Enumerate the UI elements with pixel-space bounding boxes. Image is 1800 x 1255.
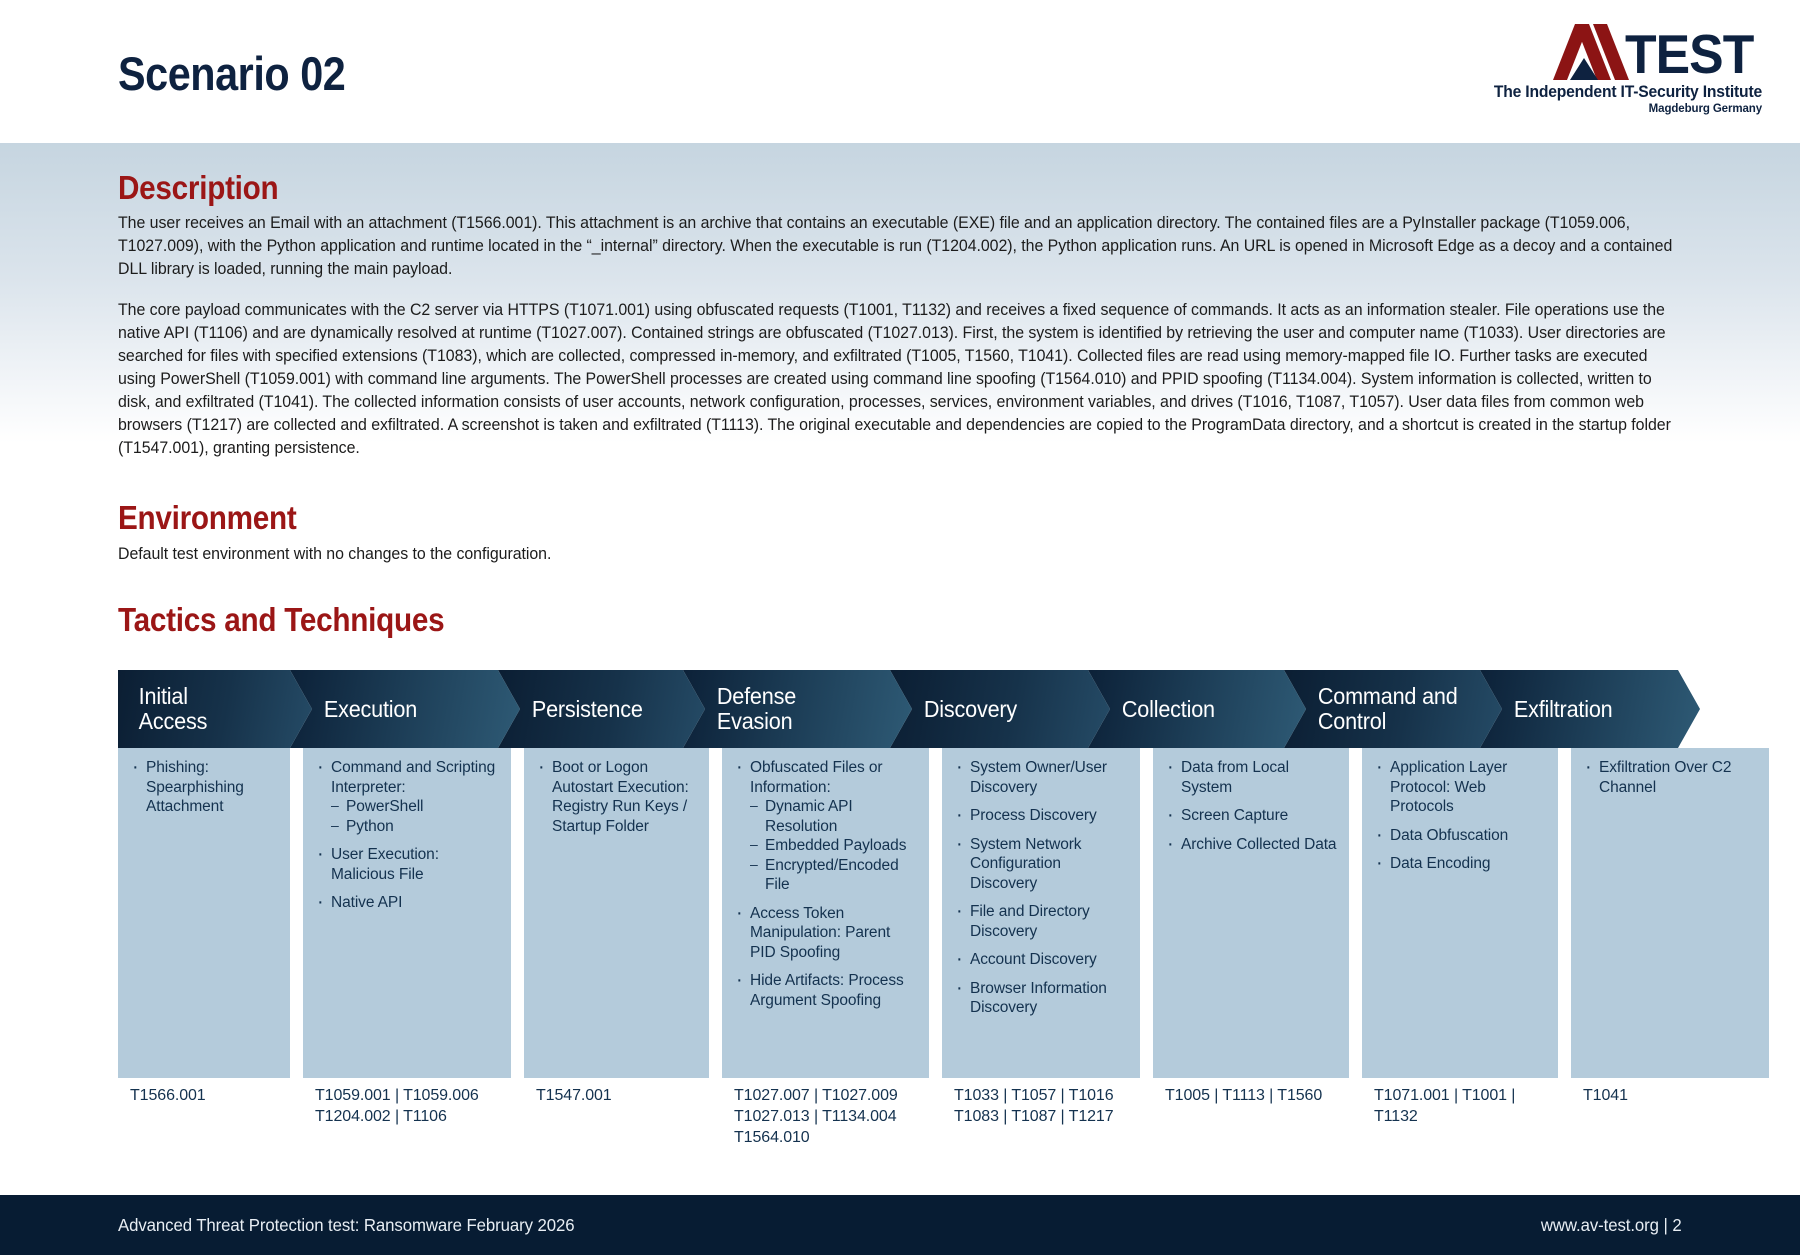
av-test-logo: TEST The Independent IT-Security Institu… [1472, 22, 1762, 115]
technique-column: Obfuscated Files or Information:Dynamic … [722, 748, 929, 1078]
environment-heading: Environment [118, 500, 1549, 536]
tactic-label: Initial Access [118, 684, 207, 734]
tactic-chevron-persistence[interactable]: Persistence [498, 670, 705, 748]
technique-ids: T1547.001 [524, 1086, 709, 1166]
description-paragraph-2: The core payload communicates with the C… [118, 299, 1681, 461]
technique-sublist: PowerShellPython [331, 797, 501, 836]
technique-item: User Execution: Malicious File [315, 845, 501, 884]
technique-column: Phishing: Spearphishing Attachment [118, 748, 290, 1078]
technique-subitem: PowerShell [331, 797, 501, 817]
logo-wordmark: TEST [1472, 22, 1762, 80]
technique-column: Command and Scripting Interpreter:PowerS… [303, 748, 511, 1078]
technique-item: Data Obfuscation [1374, 826, 1548, 846]
description-paragraph-1: The user receives an Email with an attac… [118, 212, 1681, 281]
tactic-chevron-row: Initial AccessExecutionPersistenceDefens… [118, 670, 1678, 748]
technique-ids: T1566.001 [118, 1086, 290, 1166]
technique-column: System Owner/User DiscoveryProcess Disco… [942, 748, 1140, 1078]
technique-list: System Owner/User DiscoveryProcess Disco… [954, 758, 1130, 1018]
technique-item: Access Token Manipulation: Parent PID Sp… [734, 904, 919, 963]
technique-sublist: Dynamic API ResolutionEmbedded PayloadsE… [750, 797, 919, 895]
technique-subitem: Encrypted/Encoded File [750, 856, 919, 895]
technique-item: Data Encoding [1374, 854, 1548, 874]
technique-item: Browser Information Discovery [954, 979, 1130, 1018]
technique-item: File and Directory Discovery [954, 902, 1130, 941]
technique-item: Screen Capture [1165, 806, 1339, 826]
scenario-page: Scenario 02 TEST The Independent IT-Secu… [0, 0, 1800, 1255]
page-footer: Advanced Threat Protection test: Ransomw… [0, 1195, 1800, 1255]
main-content: Description The user receives an Email w… [118, 170, 1708, 644]
technique-ids: T1027.007 | T1027.009 T1027.013 | T1134.… [722, 1086, 929, 1166]
technique-item: Data from Local System [1165, 758, 1339, 797]
technique-item: Application Layer Protocol: Web Protocol… [1374, 758, 1548, 817]
tactic-chevron-discovery[interactable]: Discovery [890, 670, 1110, 748]
technique-list: Obfuscated Files or Information:Dynamic … [734, 758, 919, 1010]
technique-ids: T1033 | T1057 | T1016 T1083 | T1087 | T1… [942, 1086, 1140, 1166]
technique-subitem: Dynamic API Resolution [750, 797, 919, 836]
technique-ids: T1059.001 | T1059.006 T1204.002 | T1106 [303, 1086, 511, 1166]
description-heading: Description [118, 170, 1549, 206]
technique-id-row: T1566.001T1059.001 | T1059.006 T1204.002… [118, 1086, 1678, 1166]
tactics-heading: Tactics and Techniques [118, 602, 1549, 638]
technique-ids: T1071.001 | T1001 | T1132 [1362, 1086, 1558, 1166]
technique-column: Data from Local SystemScreen CaptureArch… [1153, 748, 1349, 1078]
technique-item: Boot or Logon Autostart Execution: Regis… [536, 758, 699, 836]
technique-item: Phishing: Spearphishing Attachment [130, 758, 280, 817]
logo-tagline: The Independent IT-Security Institute [1487, 83, 1763, 102]
environment-paragraph-1: Default test environment with no changes… [118, 543, 1681, 566]
technique-list: Application Layer Protocol: Web Protocol… [1374, 758, 1548, 874]
technique-item: Exfiltration Over C2 Channel [1583, 758, 1759, 797]
technique-item: Native API [315, 893, 501, 913]
technique-subitem: Embedded Payloads [750, 836, 919, 856]
technique-ids: T1041 [1571, 1086, 1769, 1166]
technique-list: Exfiltration Over C2 Channel [1583, 758, 1759, 797]
tactic-label: Command and Control [1284, 684, 1458, 734]
tactic-chevron-execution[interactable]: Execution [290, 670, 520, 748]
technique-item: Obfuscated Files or Information:Dynamic … [734, 758, 919, 895]
environment-section: Environment Default test environment wit… [118, 500, 1708, 565]
technique-column: Application Layer Protocol: Web Protocol… [1362, 748, 1558, 1078]
tactic-chevron-exfiltration[interactable]: Exfiltration [1480, 670, 1700, 748]
technique-item: System Owner/User Discovery [954, 758, 1130, 797]
technique-ids: T1005 | T1113 | T1560 [1153, 1086, 1349, 1166]
page-title: Scenario 02 [118, 46, 345, 101]
logo-test-text: TEST [1625, 29, 1753, 80]
description-section: Description The user receives an Email w… [118, 170, 1708, 460]
footer-url-page: www.av-test.org | 2 [1541, 1215, 1682, 1236]
technique-item: Hide Artifacts: Process Argument Spoofin… [734, 971, 919, 1010]
technique-item: Archive Collected Data [1165, 835, 1339, 855]
tactic-chevron-command-and-control[interactable]: Command and Control [1284, 670, 1502, 748]
tactic-chevron-initial-access[interactable]: Initial Access [118, 670, 312, 748]
technique-column: Exfiltration Over C2 Channel [1571, 748, 1769, 1078]
technique-columns: Phishing: Spearphishing AttachmentComman… [118, 748, 1678, 1078]
technique-subitem: Python [331, 817, 501, 837]
technique-item: Command and Scripting Interpreter:PowerS… [315, 758, 501, 836]
technique-item: Process Discovery [954, 806, 1130, 826]
footer-test-name: Advanced Threat Protection test: Ransomw… [118, 1215, 574, 1236]
technique-list: Command and Scripting Interpreter:PowerS… [315, 758, 501, 913]
tactic-chevron-defense-evasion[interactable]: Defense Evasion [683, 670, 912, 748]
technique-column: Boot or Logon Autostart Execution: Regis… [524, 748, 709, 1078]
technique-list: Phishing: Spearphishing Attachment [130, 758, 280, 817]
tactics-section: Tactics and Techniques [118, 602, 1708, 638]
tactic-chevron-collection[interactable]: Collection [1088, 670, 1306, 748]
av-chevron-icon [1553, 24, 1631, 80]
logo-city: Magdeburg Germany [1472, 103, 1762, 115]
technique-item: System Network Configuration Discovery [954, 835, 1130, 894]
technique-list: Data from Local SystemScreen CaptureArch… [1165, 758, 1339, 854]
technique-item: Account Discovery [954, 950, 1130, 970]
technique-list: Boot or Logon Autostart Execution: Regis… [536, 758, 699, 836]
page-header: Scenario 02 TEST The Independent IT-Secu… [0, 0, 1800, 143]
